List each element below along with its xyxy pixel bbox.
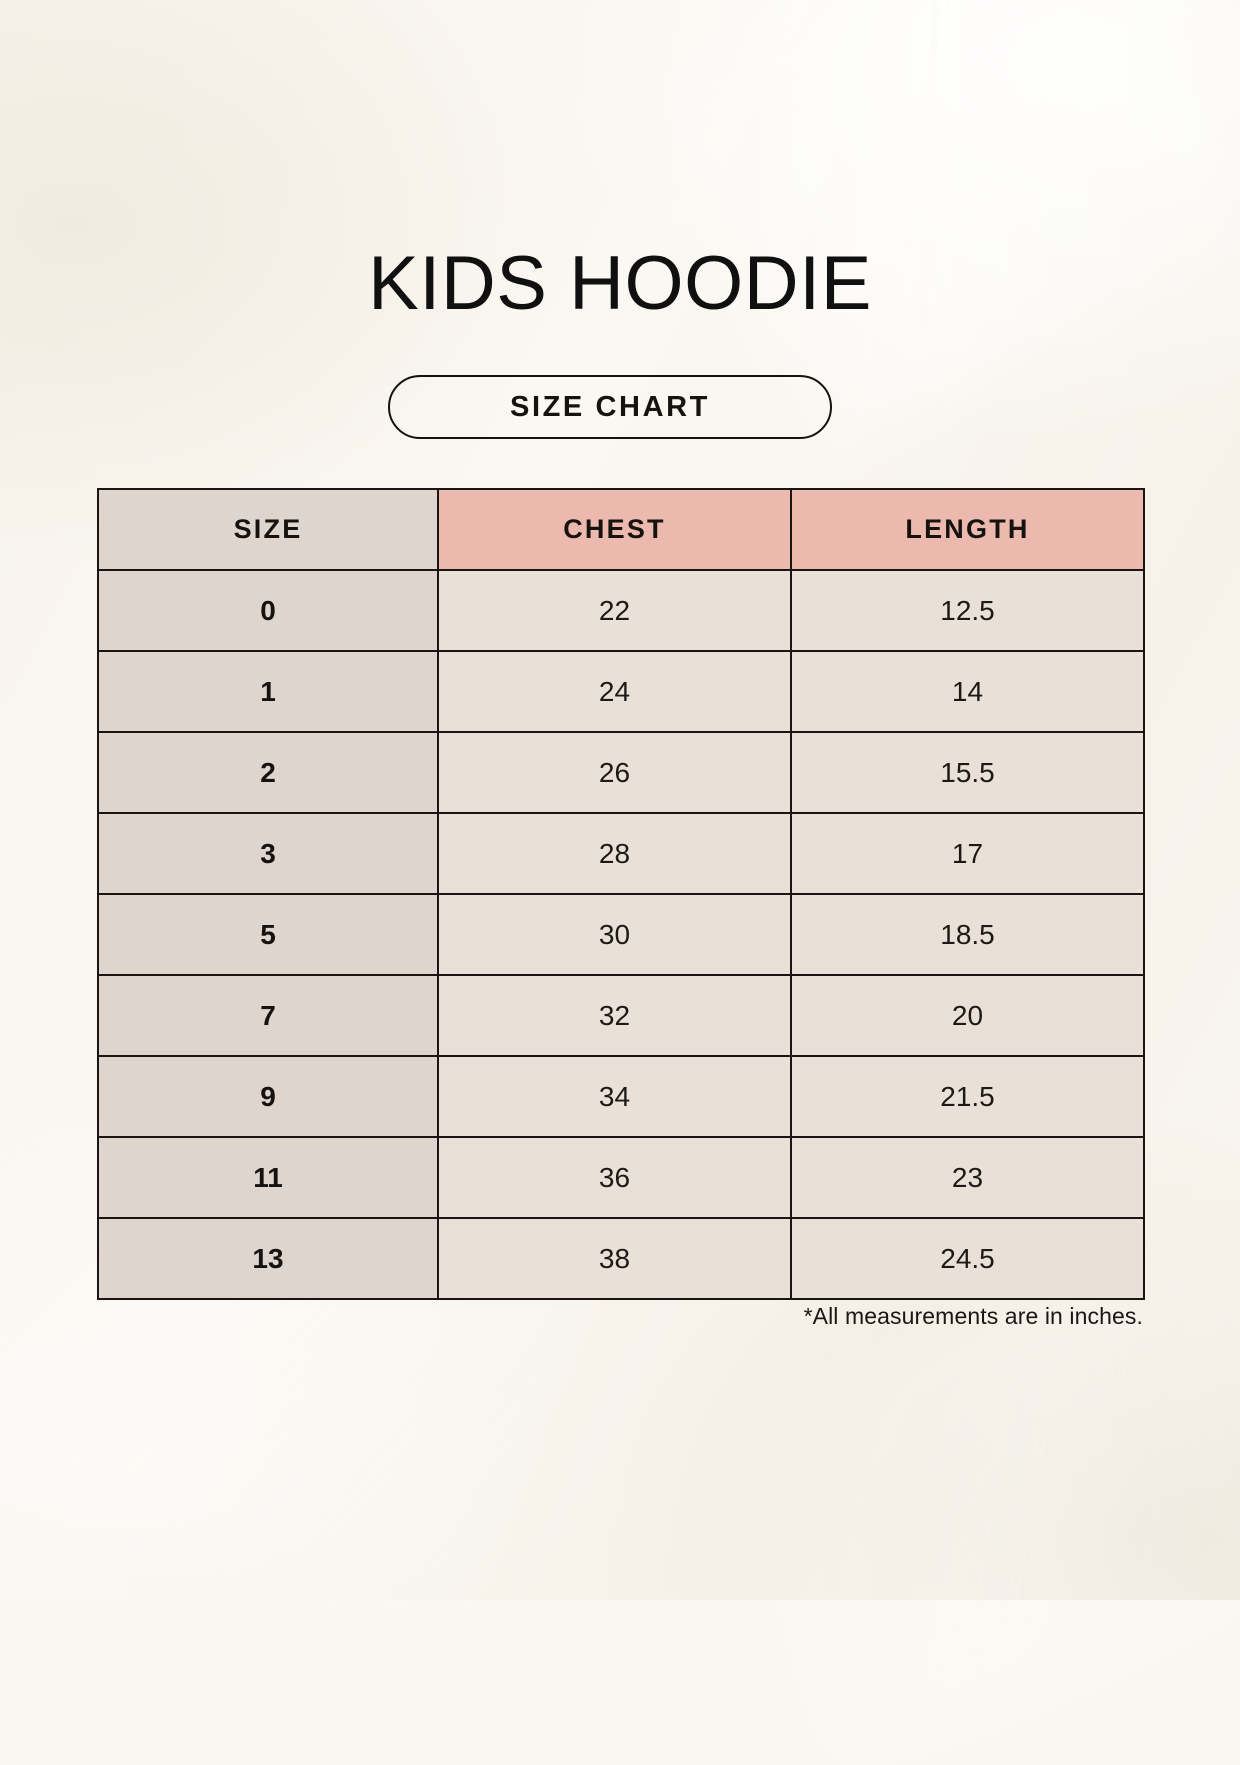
cell-size: 7 [98,975,438,1056]
cell-chest: 28 [438,813,791,894]
table-row: 7 32 20 [98,975,1144,1056]
table-header: SIZE CHEST LENGTH [98,489,1144,570]
cell-size: 1 [98,651,438,732]
cell-length: 17 [791,813,1144,894]
cell-size: 0 [98,570,438,651]
size-chart-page: KIDS HOODIE SIZE CHART SIZE CHEST LENGTH… [0,0,1240,1600]
cell-size: 11 [98,1137,438,1218]
table-row: 9 34 21.5 [98,1056,1144,1137]
table-row: 11 36 23 [98,1137,1144,1218]
cell-length: 18.5 [791,894,1144,975]
column-header-size: SIZE [98,489,438,570]
table-row: 3 28 17 [98,813,1144,894]
cell-chest: 32 [438,975,791,1056]
cell-chest: 22 [438,570,791,651]
cell-size: 3 [98,813,438,894]
table-row: 2 26 15.5 [98,732,1144,813]
cell-chest: 36 [438,1137,791,1218]
cell-chest: 26 [438,732,791,813]
size-chart-badge: SIZE CHART [388,375,832,439]
page-title: KIDS HOODIE [0,246,1240,322]
table-row: 0 22 12.5 [98,570,1144,651]
cell-chest: 34 [438,1056,791,1137]
size-chart-badge-label: SIZE CHART [510,391,710,424]
cell-length: 24.5 [791,1218,1144,1299]
cell-size: 13 [98,1218,438,1299]
cell-length: 21.5 [791,1056,1144,1137]
table-header-row: SIZE CHEST LENGTH [98,489,1144,570]
cell-size: 2 [98,732,438,813]
cell-length: 14 [791,651,1144,732]
cell-length: 12.5 [791,570,1144,651]
table-row: 13 38 24.5 [98,1218,1144,1299]
cell-size: 9 [98,1056,438,1137]
measurement-units-note: *All measurements are in inches. [97,1303,1143,1330]
cell-chest: 38 [438,1218,791,1299]
size-chart-table: SIZE CHEST LENGTH 0 22 12.5 1 24 14 2 26… [97,488,1145,1300]
cell-length: 23 [791,1137,1144,1218]
cell-chest: 30 [438,894,791,975]
column-header-length: LENGTH [791,489,1144,570]
table-body: 0 22 12.5 1 24 14 2 26 15.5 3 28 17 5 30 [98,570,1144,1299]
cell-length: 20 [791,975,1144,1056]
cell-chest: 24 [438,651,791,732]
table-row: 5 30 18.5 [98,894,1144,975]
cell-length: 15.5 [791,732,1144,813]
table-row: 1 24 14 [98,651,1144,732]
column-header-chest: CHEST [438,489,791,570]
cell-size: 5 [98,894,438,975]
